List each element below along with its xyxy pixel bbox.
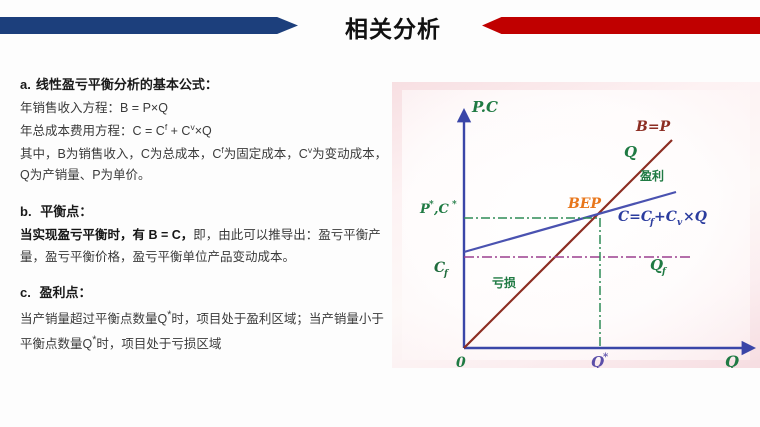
section-a-letter: a. bbox=[20, 77, 31, 92]
breakeven-point-label: BEP bbox=[567, 196, 602, 212]
y-axis-title-label: P.C bbox=[471, 98, 498, 116]
x-axis-title-label: Q bbox=[725, 352, 739, 368]
content-body: a.线性盈亏平衡分析的基本公式： 年销售收入方程：B = P×Q 年总成本费用方… bbox=[20, 74, 390, 356]
revenue-line-label: B=P bbox=[635, 119, 671, 135]
breakeven-chart-image: P.C Q 0 Q * P * ,C * C f Q f BEP B=P Q 盈… bbox=[392, 82, 760, 368]
x-breakeven-tick-star: * bbox=[603, 352, 609, 363]
breakeven-chart-svg: P.C Q 0 Q * P * ,C * C f Q f BEP B=P Q 盈… bbox=[392, 82, 760, 368]
origin-label: 0 bbox=[456, 355, 466, 368]
section-c-paragraph: 当产销量超过平衡点数量Q*时，项目处于盈利区域；当产销量小于平衡点数量Q*时，项… bbox=[20, 306, 390, 355]
section-b-heading: b. 平衡点： bbox=[20, 201, 390, 223]
section-b-letter: b. bbox=[20, 204, 32, 219]
fixed-cost-line-subscript: f bbox=[661, 267, 668, 277]
y-breakeven-tick-comma: ,C bbox=[433, 202, 450, 217]
section-a-line-2: 年总成本费用方程：C = Cf + Cv×Q bbox=[20, 120, 390, 143]
section-a-title: 线性盈亏平衡分析的基本公式： bbox=[36, 77, 218, 92]
y-breakeven-tick-star-2: * bbox=[452, 200, 457, 210]
section-c-heading: c. 盈利点： bbox=[20, 282, 390, 304]
svg-text:+C: +C bbox=[654, 209, 677, 225]
section-b-title: 平衡点： bbox=[40, 204, 92, 219]
svg-text:×Q: ×Q bbox=[683, 209, 707, 225]
profit-region-label: 盈利 bbox=[639, 168, 664, 183]
slide: 相关分析 a.线性盈亏平衡分析的基本公式： 年销售收入方程：B = P×Q 年总… bbox=[0, 0, 760, 427]
section-c-title: 盈利点： bbox=[39, 285, 91, 300]
svg-text:C=C: C=C bbox=[618, 209, 652, 225]
section-b: b. 平衡点： 当实现盈亏平衡时，有 B = C，即，由此可以推导出：盈亏平衡产… bbox=[20, 201, 390, 268]
section-b-paragraph: 当实现盈亏平衡时，有 B = C，即，由此可以推导出：盈亏平衡产量，盈亏平衡价格… bbox=[20, 225, 390, 268]
section-b-bold-lead: 当实现盈亏平衡时，有 B = C， bbox=[20, 228, 193, 242]
section-c: c. 盈利点： 当产销量超过平衡点数量Q*时，项目处于盈利区域；当产销量小于平衡… bbox=[20, 282, 390, 356]
revenue-slope-label: Q bbox=[624, 143, 637, 161]
section-a-line-1: 年销售收入方程：B = P×Q bbox=[20, 98, 390, 120]
section-a: a.线性盈亏平衡分析的基本公式： 年销售收入方程：B = P×Q 年总成本费用方… bbox=[20, 74, 390, 187]
header-left-arrow-decoration bbox=[0, 17, 298, 34]
section-a-line-3: 其中，B为销售收入，C为总成本，Cf为固定成本，Cv为变动成本，Q为产销量、P为… bbox=[20, 143, 390, 187]
section-a-heading: a.线性盈亏平衡分析的基本公式： bbox=[20, 74, 390, 96]
cost-line-formula-label: C=C f +C v ×Q bbox=[618, 209, 707, 228]
slide-header: 相关分析 bbox=[0, 0, 760, 56]
section-c-letter: c. bbox=[20, 285, 31, 300]
fixed-cost-tick-subscript: f bbox=[443, 269, 450, 279]
page-title: 相关分析 bbox=[318, 10, 468, 44]
header-right-arrow-decoration bbox=[482, 17, 760, 34]
loss-region-label: 亏损 bbox=[492, 275, 516, 290]
